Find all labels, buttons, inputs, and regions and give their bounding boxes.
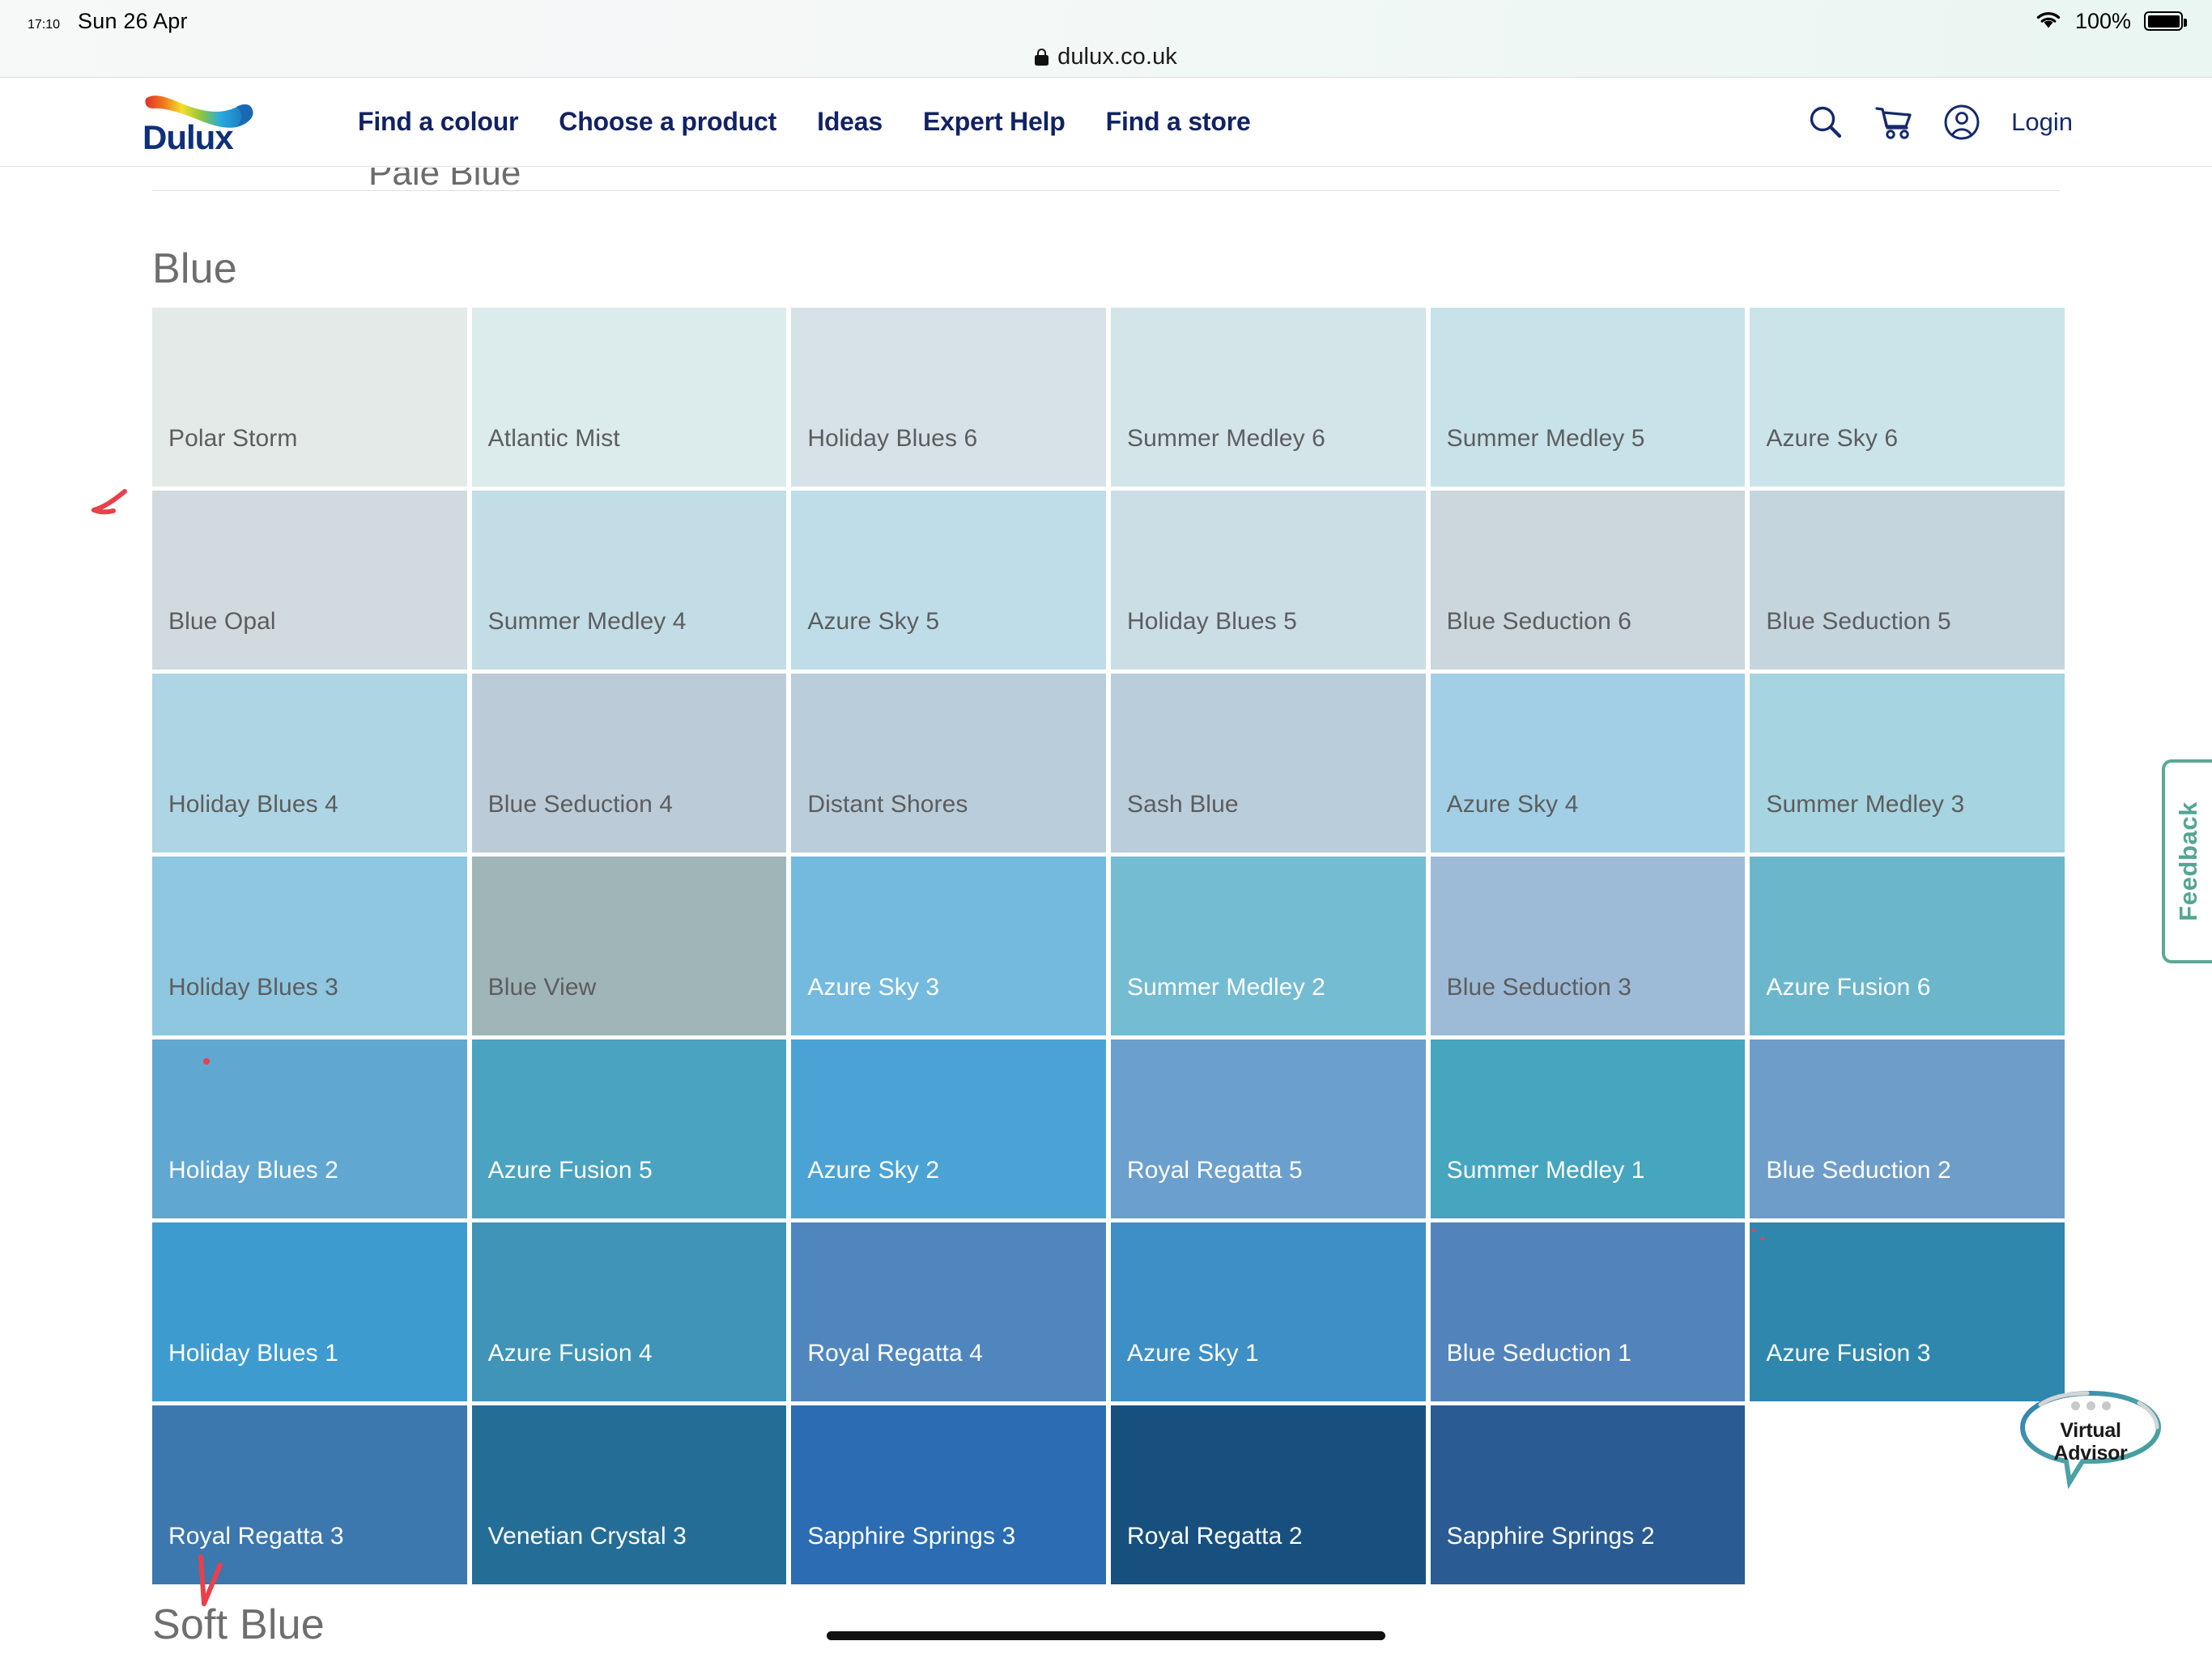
colour-swatch-label: Blue Seduction 2 <box>1766 1157 1950 1184</box>
colour-swatch[interactable]: Azure Fusion 5 <box>472 1039 787 1218</box>
colour-swatch-label: Sapphire Springs 3 <box>807 1523 1015 1550</box>
home-indicator[interactable] <box>827 1631 1385 1640</box>
colour-swatch-label: Azure Fusion 3 <box>1766 1340 1930 1367</box>
svg-text:Dulux: Dulux <box>143 118 234 154</box>
colour-swatch-label: Azure Sky 2 <box>807 1157 939 1184</box>
colour-swatch[interactable]: Summer Medley 6 <box>1111 308 1426 487</box>
colour-swatch[interactable]: Blue View <box>472 857 787 1035</box>
colour-swatch[interactable]: Summer Medley 2 <box>1111 857 1426 1035</box>
colour-swatch-label: Blue Seduction 6 <box>1447 608 1631 636</box>
login-button[interactable]: Login <box>2011 108 2073 137</box>
colour-swatch[interactable]: Holiday Blues 6 <box>791 308 1106 487</box>
search-icon[interactable] <box>1807 104 1844 141</box>
colour-swatch[interactable]: Summer Medley 3 <box>1750 674 2065 852</box>
annotation-stroke-holiday-blues-4 <box>89 487 146 528</box>
colour-swatch[interactable]: Summer Medley 5 <box>1431 308 1746 487</box>
colour-swatch[interactable]: Blue Seduction 5 <box>1750 491 2065 670</box>
colour-swatch-label: Holiday Blues 2 <box>168 1157 338 1184</box>
site-header: Dulux Find a colour Choose a product Ide… <box>0 78 2212 167</box>
colour-swatch-label: Royal Regatta 3 <box>168 1523 344 1550</box>
status-bar-right: 100% <box>2035 9 2212 34</box>
colour-swatch-label: Blue Seduction 5 <box>1766 608 1950 636</box>
colour-swatch[interactable]: Holiday Blues 3 <box>152 857 467 1035</box>
colour-swatch-label: Azure Sky 1 <box>1127 1340 1259 1367</box>
colour-swatch-label: Blue View <box>488 974 597 1001</box>
colour-swatch-label: Holiday Blues 6 <box>807 425 977 453</box>
status-bar-left: 17:10 Sun 26 Apr <box>0 9 188 34</box>
status-bar-time: 17:10 <box>28 18 60 32</box>
advisor-dots-icon <box>2016 1401 2165 1410</box>
colour-swatch[interactable]: Royal Regatta 5 <box>1111 1039 1426 1218</box>
main-navigation: Find a colour Choose a product Ideas Exp… <box>358 107 1251 137</box>
colour-swatch[interactable]: Azure Fusion 4 <box>472 1222 787 1401</box>
wifi-icon <box>2035 9 2062 34</box>
url-chip[interactable]: dulux.co.uk <box>1035 44 1177 70</box>
colour-swatch[interactable]: Azure Fusion 3 <box>1750 1222 2065 1401</box>
colour-swatch[interactable]: Azure Fusion 6 <box>1750 857 2065 1035</box>
nav-item-find-a-store[interactable]: Find a store <box>1106 107 1251 137</box>
colour-swatch[interactable]: Blue Seduction 6 <box>1431 491 1746 670</box>
colour-swatch-label: Blue Seduction 1 <box>1447 1340 1631 1367</box>
colour-swatch[interactable]: Azure Sky 2 <box>791 1039 1106 1218</box>
colour-swatch-label: Holiday Blues 1 <box>168 1340 338 1367</box>
colour-swatch-label: Royal Regatta 4 <box>807 1340 983 1367</box>
colour-swatch[interactable]: Venetian Crystal 3 <box>472 1405 787 1584</box>
nav-item-find-a-colour[interactable]: Find a colour <box>358 107 518 137</box>
section-divider <box>152 190 2060 191</box>
lock-icon <box>1035 49 1049 66</box>
colour-swatch[interactable]: Azure Sky 5 <box>791 491 1106 670</box>
page-content: Pale Blue Blue Polar StormAtlantic MistH… <box>0 168 2212 1658</box>
colour-swatch[interactable]: Azure Sky 3 <box>791 857 1106 1035</box>
colour-swatch-label: Summer Medley 2 <box>1127 974 1325 1001</box>
battery-full-icon <box>2144 11 2183 31</box>
colour-swatch-label: Azure Fusion 5 <box>488 1157 653 1184</box>
colour-swatch-label: Azure Sky 5 <box>807 608 939 636</box>
colour-swatch[interactable]: Blue Seduction 2 <box>1750 1039 2065 1218</box>
colour-swatch-label: Sash Blue <box>1127 791 1239 818</box>
battery-percent-label: 100% <box>2075 9 2131 34</box>
colour-swatch-label: Summer Medley 3 <box>1766 791 1964 818</box>
colour-swatch[interactable]: Holiday Blues 1 <box>152 1222 467 1401</box>
nav-item-ideas[interactable]: Ideas <box>817 107 883 137</box>
colour-swatch[interactable]: Polar Storm <box>152 308 467 487</box>
colour-swatch-label: Summer Medley 1 <box>1447 1157 1645 1184</box>
colour-swatch[interactable]: Sapphire Springs 3 <box>791 1405 1106 1584</box>
colour-swatch-label: Royal Regatta 2 <box>1127 1523 1303 1550</box>
virtual-advisor-button[interactable]: Virtual Advisor <box>2016 1387 2165 1490</box>
colour-swatch-label: Summer Medley 4 <box>488 608 687 636</box>
colour-swatch[interactable]: Distant Shores <box>791 674 1106 852</box>
colour-swatch-label: Holiday Blues 5 <box>1127 608 1297 636</box>
colour-swatch-label: Holiday Blues 4 <box>168 791 338 818</box>
colour-swatch-label: Azure Sky 6 <box>1766 425 1898 453</box>
url-text: dulux.co.uk <box>1057 44 1177 70</box>
colour-swatch[interactable]: Summer Medley 4 <box>472 491 787 670</box>
colour-swatch-label: Sapphire Springs 2 <box>1447 1523 1655 1550</box>
colour-swatch-label: Distant Shores <box>807 791 968 818</box>
colour-swatch-label: Azure Fusion 4 <box>488 1340 653 1367</box>
colour-swatch[interactable]: Royal Regatta 3 <box>152 1405 467 1584</box>
colour-swatch-label: Blue Opal <box>168 608 276 636</box>
colour-swatch-label: Azure Sky 4 <box>1447 791 1579 818</box>
colour-swatch[interactable]: Royal Regatta 4 <box>791 1222 1106 1401</box>
colour-swatch[interactable]: Summer Medley 1 <box>1431 1039 1746 1218</box>
colour-swatch[interactable]: Blue Opal <box>152 491 467 670</box>
colour-swatch[interactable]: Holiday Blues 4 <box>152 674 467 852</box>
colour-swatch[interactable]: Blue Seduction 3 <box>1431 857 1746 1035</box>
colour-swatch-label: Summer Medley 6 <box>1127 425 1325 453</box>
colour-swatch[interactable]: Sapphire Springs 2 <box>1431 1405 1746 1584</box>
colour-swatch[interactable]: Holiday Blues 2 <box>152 1039 467 1218</box>
feedback-tab[interactable]: Feedback <box>2162 759 2212 963</box>
colour-swatch[interactable]: Azure Sky 4 <box>1431 674 1746 852</box>
colour-swatch[interactable]: Azure Sky 6 <box>1750 308 2065 487</box>
colour-swatch-label: Blue Seduction 3 <box>1447 974 1631 1001</box>
colour-swatch-label: Holiday Blues 3 <box>168 974 338 1001</box>
colour-swatch-label: Atlantic Mist <box>488 425 620 453</box>
colour-swatch[interactable]: Royal Regatta 2 <box>1111 1405 1426 1584</box>
colour-swatch[interactable]: Holiday Blues 5 <box>1111 491 1426 670</box>
colour-swatch[interactable]: Blue Seduction 4 <box>472 674 787 852</box>
colour-swatch[interactable]: Azure Sky 1 <box>1111 1222 1426 1401</box>
colour-swatch-label: Royal Regatta 5 <box>1127 1157 1303 1184</box>
ipad-status-bar: 17:10 Sun 26 Apr 100% <box>0 0 2212 42</box>
colour-swatch[interactable]: Blue Seduction 1 <box>1431 1222 1746 1401</box>
feedback-tab-label: Feedback <box>2174 801 2203 921</box>
colour-swatch-label: Azure Sky 3 <box>807 974 939 1001</box>
dulux-logo[interactable]: Dulux <box>139 91 279 154</box>
colour-swatch-label: Summer Medley 5 <box>1447 425 1645 453</box>
advisor-label-line1: Virtual <box>2060 1419 2121 1442</box>
colour-swatch[interactable]: Atlantic Mist <box>472 308 787 487</box>
colour-swatch-grid: Polar StormAtlantic MistHoliday Blues 6S… <box>152 308 2065 1584</box>
status-bar-date: Sun 26 Apr <box>78 9 188 34</box>
page-title: Blue <box>152 244 237 293</box>
advisor-label: Virtual Advisor <box>2016 1419 2165 1465</box>
colour-swatch-label: Polar Storm <box>168 425 297 453</box>
colour-swatch-label: Venetian Crystal 3 <box>488 1523 687 1550</box>
colour-swatch-label: Azure Fusion 6 <box>1766 974 1930 1001</box>
user-account-icon[interactable] <box>1943 104 1980 141</box>
shopping-cart-icon[interactable] <box>1874 104 1914 141</box>
advisor-label-line2: Advisor <box>2054 1442 2128 1465</box>
nav-item-expert-help[interactable]: Expert Help <box>923 107 1066 137</box>
colour-swatch[interactable]: Sash Blue <box>1111 674 1426 852</box>
header-actions: Login <box>1807 104 2212 141</box>
nav-item-choose-a-product[interactable]: Choose a product <box>559 107 776 137</box>
next-section-title: Soft Blue <box>152 1601 325 1649</box>
colour-swatch-label: Blue Seduction 4 <box>488 791 673 818</box>
